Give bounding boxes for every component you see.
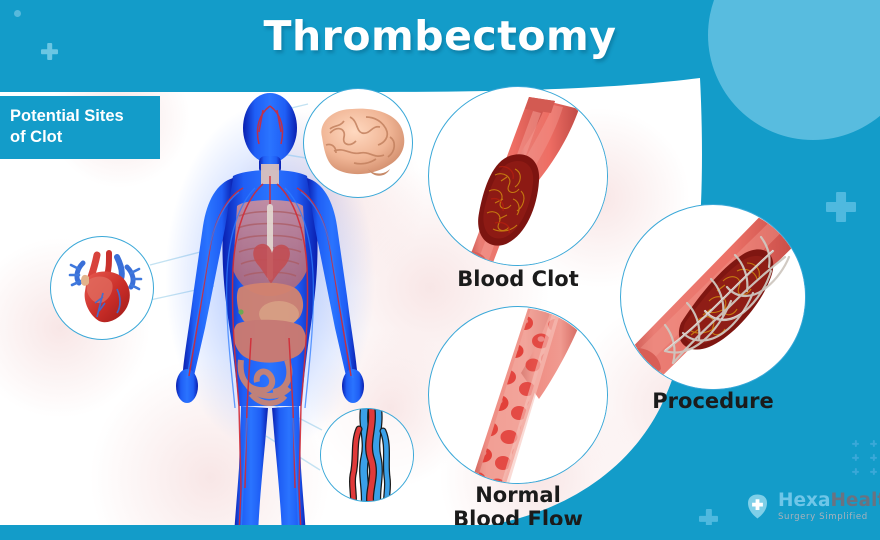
brand-wordmark: HexaHealth Surgery Simplified	[778, 492, 880, 521]
brand-name-part1: Hexa	[778, 490, 830, 511]
dot-grid-cell	[852, 454, 859, 461]
section-label-potential-sites: Potential Sites of Clot	[0, 96, 160, 159]
caption-line: Normal	[418, 484, 618, 508]
leg-vessel-callout	[320, 408, 414, 502]
decorative-plus-mid-right	[680, 130, 697, 147]
dot-grid-cell	[870, 440, 877, 447]
procedure-illustration	[620, 204, 806, 390]
caption-line: Blood Clot	[418, 268, 618, 292]
brand-tagline: Surgery Simplified	[778, 513, 880, 522]
infographic-canvas: Thrombectomy	[0, 0, 880, 540]
normal-blood-flow-illustration	[428, 306, 608, 484]
medical-cross-shield-icon	[744, 493, 771, 520]
section-label-line1: Potential Sites	[10, 106, 148, 127]
brain-callout	[303, 88, 413, 198]
decorative-dot-grid	[852, 440, 880, 475]
decorative-plus-right	[826, 192, 856, 222]
dot-grid-cell	[870, 468, 877, 475]
bottom-accent-strip	[0, 525, 880, 540]
brand-name-part2: Health	[830, 490, 880, 511]
dot-grid-cell	[870, 454, 877, 461]
blood-clot-illustration	[428, 86, 608, 266]
brand-logo[interactable]: HexaHealth Surgery Simplified	[744, 492, 880, 521]
normal-blood-flow-caption: Normal Blood Flow	[418, 484, 618, 531]
heart-callout	[50, 236, 154, 340]
dot-grid-cell	[852, 440, 859, 447]
blood-clot-caption: Blood Clot	[418, 268, 618, 292]
dot-grid-cell	[852, 468, 859, 475]
section-label-line2: of Clot	[10, 127, 148, 148]
caption-line: Procedure	[613, 390, 813, 414]
procedure-caption: Procedure	[613, 390, 813, 414]
page-title: Thrombectomy	[0, 12, 880, 60]
